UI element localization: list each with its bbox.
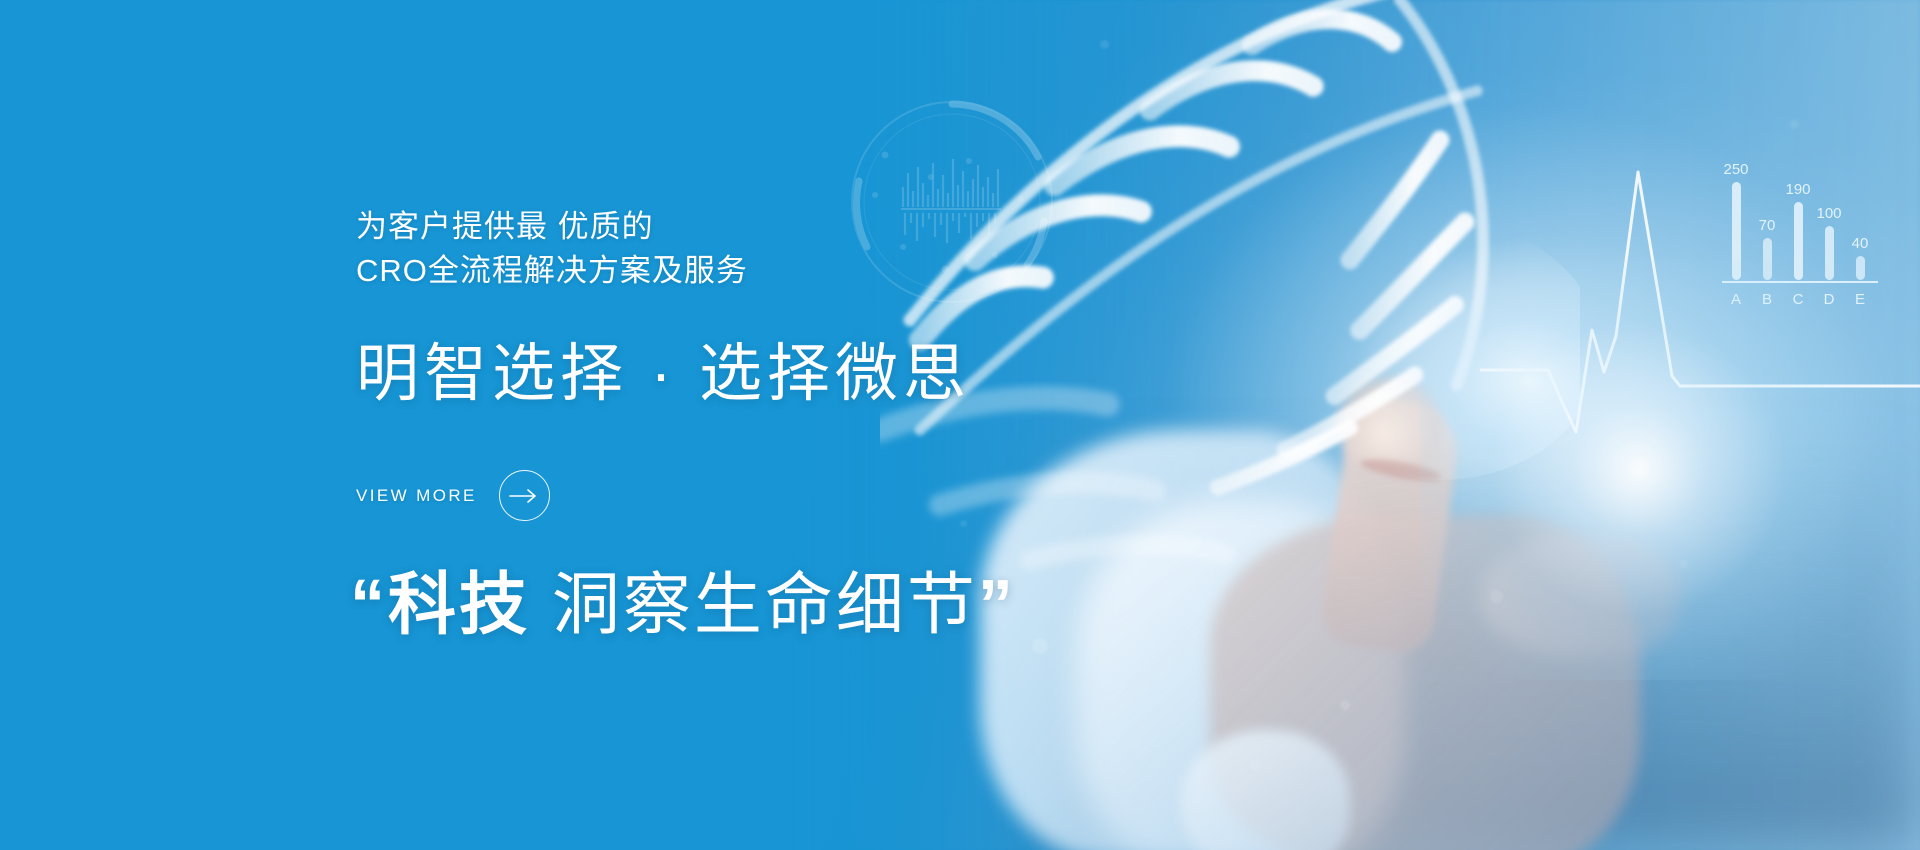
svg-text:C: C: [1793, 291, 1804, 308]
svg-text:40: 40: [1852, 235, 1869, 252]
quote-light-text: 洞察生命细节: [530, 567, 978, 643]
view-more-label: VIEW MORE: [356, 486, 477, 506]
hero-banner: 250 70 190 100 40 A B C D E: [0, 0, 1920, 850]
bokeh-dot: [1790, 120, 1799, 129]
arrow-right-icon[interactable]: [499, 470, 550, 521]
bokeh-dot: [1680, 560, 1688, 568]
hero-headline: 明智选择 · 选择微思: [356, 340, 971, 409]
hero-subtitle: 为客户提供最 优质的 CRO全流程解决方案及服务: [356, 205, 748, 293]
svg-text:250: 250: [1723, 161, 1748, 178]
quote-close-mark: ”: [978, 565, 1016, 643]
svg-text:E: E: [1855, 291, 1865, 308]
bokeh-dot: [1250, 760, 1261, 771]
svg-text:D: D: [1824, 291, 1835, 308]
svg-text:70: 70: [1759, 217, 1776, 234]
subtitle-line-2: CRO全流程解决方案及服务: [356, 249, 748, 293]
quote-strong-text: 科技: [388, 567, 530, 643]
mini-bar-chart: 250 70 190 100 40 A B C D E: [1710, 150, 1900, 330]
quote-open-mark: “: [350, 565, 388, 643]
subtitle-line-1: 为客户提供最 优质的: [356, 205, 748, 249]
svg-text:A: A: [1731, 291, 1741, 308]
bokeh-dot: [1490, 590, 1503, 603]
svg-text:B: B: [1762, 291, 1772, 308]
svg-text:100: 100: [1816, 205, 1841, 222]
bokeh-dot: [1340, 700, 1350, 710]
view-more-button[interactable]: VIEW MORE: [356, 470, 550, 521]
hero-content: 为客户提供最 优质的 CRO全流程解决方案及服务 明智选择 · 选择微思 VIE…: [356, 0, 1176, 850]
svg-text:190: 190: [1785, 181, 1810, 198]
hero-quote: “科技 洞察生命细节”: [350, 565, 1016, 643]
